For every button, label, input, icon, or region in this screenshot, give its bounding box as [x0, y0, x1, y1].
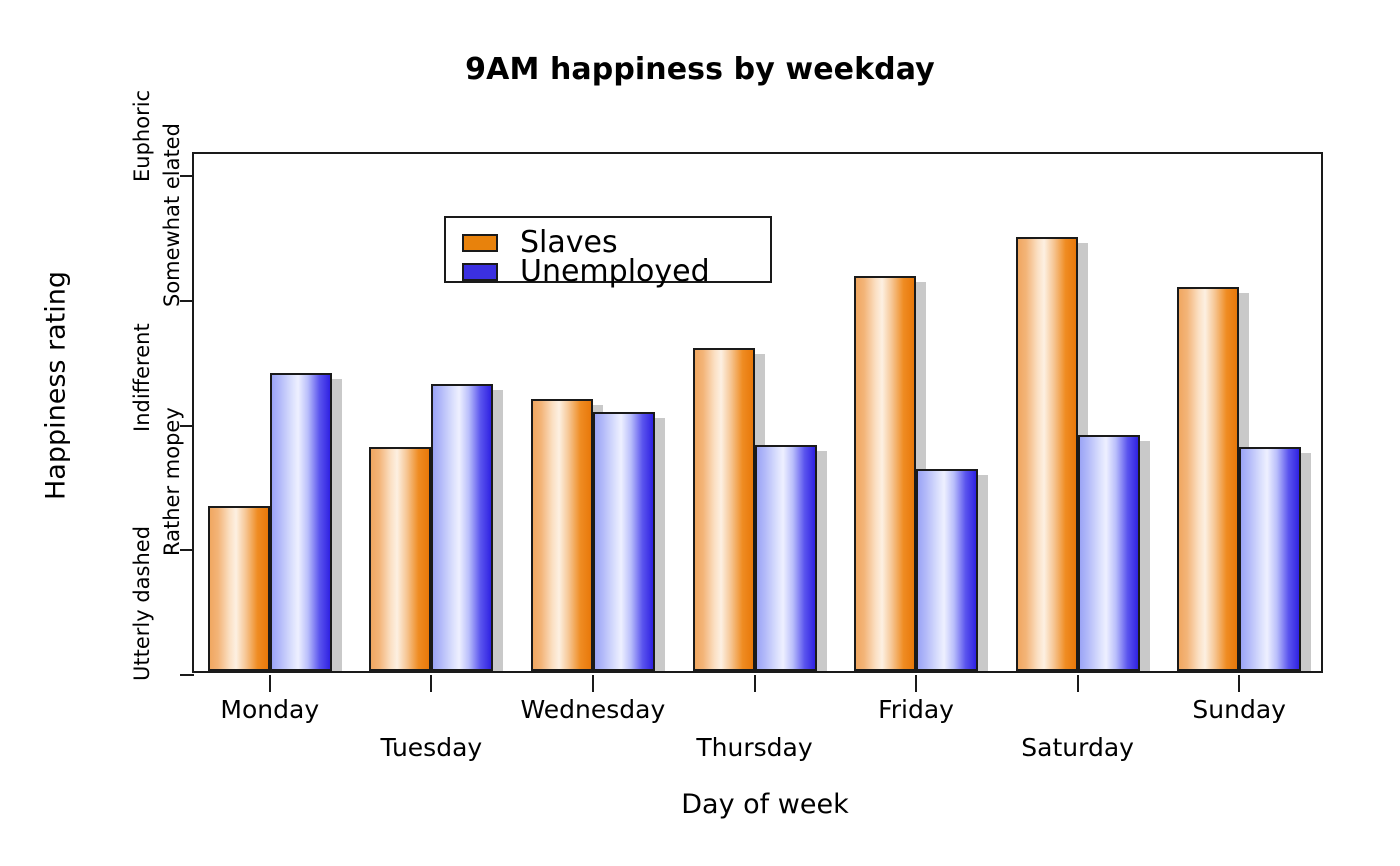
bar-saturday-unemployed[interactable]: [1078, 435, 1140, 671]
y-axis-title: Happiness rating: [41, 246, 72, 526]
y-axis-tick-label: Somewhat elated: [160, 123, 184, 307]
x-axis-tick-label: Thursday: [696, 733, 812, 762]
chart-figure: 9AM happiness by weekday Happiness ratin…: [0, 0, 1400, 866]
y-axis-tick: [180, 425, 194, 427]
x-axis-tick-label: Sunday: [1192, 695, 1286, 724]
bar-monday-unemployed[interactable]: [270, 373, 332, 671]
x-axis-tick: [1077, 675, 1079, 692]
y-axis-tick-label: Indifferent: [130, 323, 154, 432]
x-axis-tick-label: Wednesday: [521, 695, 666, 724]
bar-thursday-unemployed[interactable]: [755, 445, 817, 671]
y-axis-tick: [180, 175, 194, 177]
x-axis-tick: [430, 675, 432, 692]
bar-tuesday-unemployed[interactable]: [431, 384, 493, 671]
chart-title: 9AM happiness by weekday: [0, 52, 1400, 87]
x-axis-tick: [269, 675, 271, 692]
y-axis-tick-label: Utterly dashed: [130, 526, 154, 681]
x-axis-tick: [915, 675, 917, 692]
x-axis-tick: [592, 675, 594, 692]
legend[interactable]: SlavesUnemployed: [444, 216, 772, 283]
x-axis-tick: [1238, 675, 1240, 692]
bar-tuesday-slaves[interactable]: [369, 447, 431, 671]
bar-saturday-slaves[interactable]: [1016, 237, 1078, 671]
legend-label: Unemployed: [520, 257, 710, 287]
legend-item-unemployed[interactable]: Unemployed: [462, 257, 710, 287]
legend-swatch-icon: [462, 263, 498, 281]
bar-sunday-slaves[interactable]: [1177, 287, 1239, 671]
y-axis-tick-label: Rather mopey: [160, 408, 184, 557]
bar-sunday-unemployed[interactable]: [1239, 447, 1301, 671]
plot-area: Utterly dashedRather mopeyIndifferentSom…: [192, 152, 1323, 673]
y-axis-tick-label: Euphoric: [130, 90, 154, 182]
x-axis-tick-label: Friday: [878, 695, 954, 724]
bar-friday-slaves[interactable]: [854, 276, 916, 671]
legend-swatch-icon: [462, 234, 498, 252]
plot-inner: Utterly dashedRather mopeyIndifferentSom…: [194, 154, 1321, 671]
x-axis-title: Day of week: [455, 789, 1075, 820]
bar-thursday-slaves[interactable]: [693, 348, 755, 671]
bar-wednesday-slaves[interactable]: [531, 399, 593, 671]
x-axis-tick-label: Tuesday: [380, 733, 482, 762]
bar-monday-slaves[interactable]: [208, 506, 270, 671]
bar-wednesday-unemployed[interactable]: [593, 412, 655, 671]
x-axis-tick: [754, 675, 756, 692]
x-axis-tick-label: Monday: [220, 695, 319, 724]
y-axis-tick: [180, 674, 194, 676]
x-axis-tick-label: Saturday: [1021, 733, 1134, 762]
bar-friday-unemployed[interactable]: [916, 469, 978, 671]
